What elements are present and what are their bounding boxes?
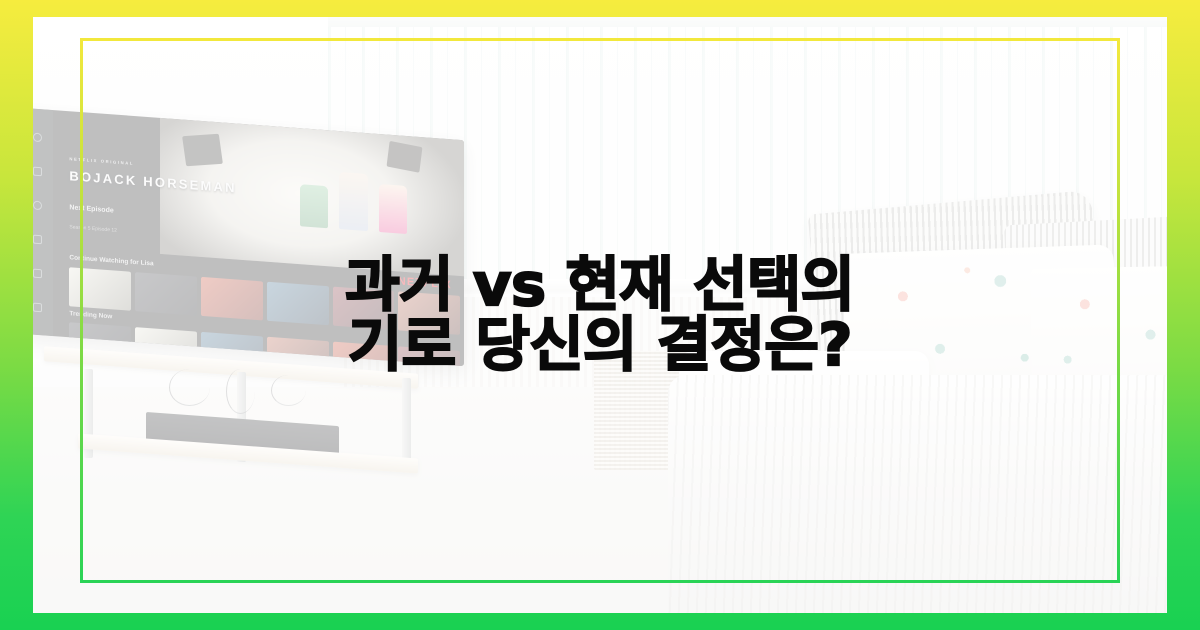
blinds-headrail: [328, 17, 1167, 27]
studio-light-icon: [182, 134, 222, 166]
bookmark-icon: [33, 201, 42, 211]
television: NETFLIX ORIGINAL BOJACK HORSEMAN Next Ep…: [33, 108, 464, 367]
cable: [226, 369, 255, 414]
hero-figures: [300, 158, 428, 235]
thumbnail-card: NETFLIX ORIGINAL BOJACK HORSEMAN Next Ep…: [0, 0, 1200, 630]
search-icon: [33, 133, 42, 143]
tile: [135, 273, 197, 316]
tv-stand-leg: [402, 378, 411, 467]
home-icon: [33, 167, 42, 177]
tv-icon: [33, 302, 42, 312]
sofa-ribbing: [668, 375, 1167, 613]
tile: [398, 292, 460, 335]
living-room-scene: NETFLIX ORIGINAL BOJACK HORSEMAN Next Ep…: [33, 17, 1167, 613]
sofa-seat: [668, 375, 1167, 613]
library-icon: [33, 235, 42, 245]
cable: [169, 369, 210, 406]
netflix-original-label: NETFLIX ORIGINAL: [69, 157, 134, 167]
tile: [69, 268, 131, 311]
tile: [332, 287, 394, 330]
tv-nav-rail: [33, 108, 53, 337]
background-photo: NETFLIX ORIGINAL BOJACK HORSEMAN Next Ep…: [33, 17, 1167, 613]
tile: [266, 282, 328, 325]
trending-now-label: Trending Now: [69, 311, 112, 321]
cable: [271, 375, 306, 406]
tile: [201, 277, 263, 320]
figure: [339, 172, 367, 231]
hero-artwork: [160, 118, 464, 276]
continue-watching-label: Continue Watching for Lisa: [69, 254, 153, 267]
figure: [300, 184, 328, 228]
episode-label: Season 5 Episode 12: [69, 225, 117, 234]
figure: [379, 185, 407, 235]
netflix-logo: NETFLIX: [397, 276, 451, 292]
tv-screen: NETFLIX ORIGINAL BOJACK HORSEMAN Next Ep…: [53, 110, 464, 367]
next-episode-label: Next Episode: [69, 204, 113, 214]
add-icon: [33, 268, 42, 278]
